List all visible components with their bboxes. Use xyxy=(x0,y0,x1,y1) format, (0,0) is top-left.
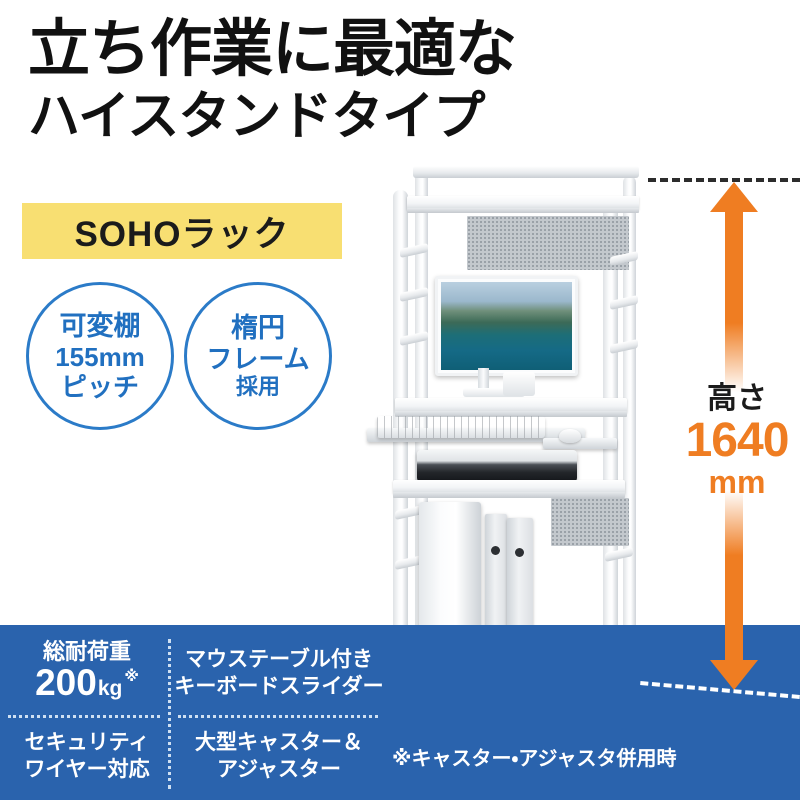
spec-security-wire-line-1: セキュリティ xyxy=(25,729,150,756)
page-title: 立ち作業に最適な ハイスタンドタイプ xyxy=(28,18,728,146)
spec-keyboard-slider-line-2: キーボードスライダー xyxy=(174,673,383,700)
binder-2 xyxy=(507,518,533,630)
top-frame-rail xyxy=(413,166,639,178)
feature-circle-2-line-3: 採用 xyxy=(236,374,280,400)
binder-hole xyxy=(515,548,524,557)
spec-security-wire-line-2: ワイヤー対応 xyxy=(24,756,149,783)
keyboard xyxy=(377,416,545,438)
mesh-panel-lower xyxy=(551,498,629,546)
feature-circle-2-line-1: 楕円 xyxy=(231,313,285,344)
spec-footer: 総耐荷重 200 kg ※ マウステーブル付き キーボードスライダー セキュリテ… xyxy=(0,625,800,800)
height-guide-line-top xyxy=(648,178,800,182)
mouse-table xyxy=(543,438,617,449)
category-badge: SOHOラック xyxy=(22,203,342,259)
spec-divider-vertical xyxy=(168,639,171,789)
mesh-panel-upper xyxy=(467,216,629,270)
spec-caster-adjuster-line-2: アジャスター xyxy=(217,756,341,783)
feature-circle-oval-frame: 楕円 フレーム 採用 xyxy=(184,282,332,430)
feature-circle-group: 可変棚 155mm ピッチ 楕円 フレーム 採用 xyxy=(26,282,332,430)
height-callout: 高さ 1640 mm xyxy=(676,382,798,498)
footnote: ※キャスター・アジャスタ併用時 xyxy=(392,742,792,771)
pc-tower xyxy=(419,502,481,630)
binder-hole xyxy=(491,546,500,555)
feature-circle-1-line-3: ピッチ xyxy=(61,372,139,402)
spec-caster-adjuster-line-1: 大型キャスター＆ xyxy=(195,729,363,756)
spec-security-wire: セキュリティ ワイヤー対応 xyxy=(6,720,168,792)
height-arrow-up-icon xyxy=(706,182,762,392)
mouse xyxy=(559,429,581,443)
spec-keyboard-slider-line-1: マウステーブル付き xyxy=(185,646,373,673)
spec-total-load-capacity: 総耐荷重 200 kg ※ xyxy=(6,633,168,713)
feature-circle-2-line-2: フレーム xyxy=(206,344,309,374)
binder-1 xyxy=(485,514,507,630)
spec-total-load-unit: kg xyxy=(98,672,123,706)
headline-line-2: ハイスタンドタイプ xyxy=(28,88,728,146)
category-badge-label: SOHOラック xyxy=(74,206,289,257)
feature-circle-adjustable-shelf: 可変棚 155mm ピッチ xyxy=(26,282,174,430)
monitor xyxy=(435,276,578,376)
spec-caster-adjuster: 大型キャスター＆ アジャスター xyxy=(176,720,382,792)
printer xyxy=(417,450,577,482)
monitor-riser-block xyxy=(503,372,535,396)
spec-total-load-asterisk: ※ xyxy=(124,660,139,694)
ad-banner: 立ち作業に最適な ハイスタンドタイプ SOHOラック 可変棚 155mm ピッチ… xyxy=(0,0,800,800)
feature-circle-1-line-1: 可変棚 xyxy=(60,311,141,342)
feature-circle-1-line-2: 155mm xyxy=(55,342,145,372)
spec-total-load-value: 200 xyxy=(35,666,97,700)
shelf-top-edge xyxy=(407,208,639,213)
height-label-text: 高さ xyxy=(676,382,798,416)
height-value: 1640 xyxy=(676,416,798,466)
height-unit: mm xyxy=(676,466,798,498)
height-arrow-down-icon xyxy=(706,490,762,690)
monitor-screen xyxy=(441,282,572,370)
headline-line-1: 立ち作業に最適な xyxy=(28,18,728,82)
spec-divider-horizontal-left xyxy=(8,715,160,718)
spec-total-load-value-row: 200 kg ※ xyxy=(35,666,139,708)
spec-divider-horizontal-right xyxy=(178,715,378,718)
spec-grid: 総耐荷重 200 kg ※ マウステーブル付き キーボードスライダー セキュリテ… xyxy=(0,625,380,800)
spec-keyboard-slider: マウステーブル付き キーボードスライダー xyxy=(176,633,382,713)
